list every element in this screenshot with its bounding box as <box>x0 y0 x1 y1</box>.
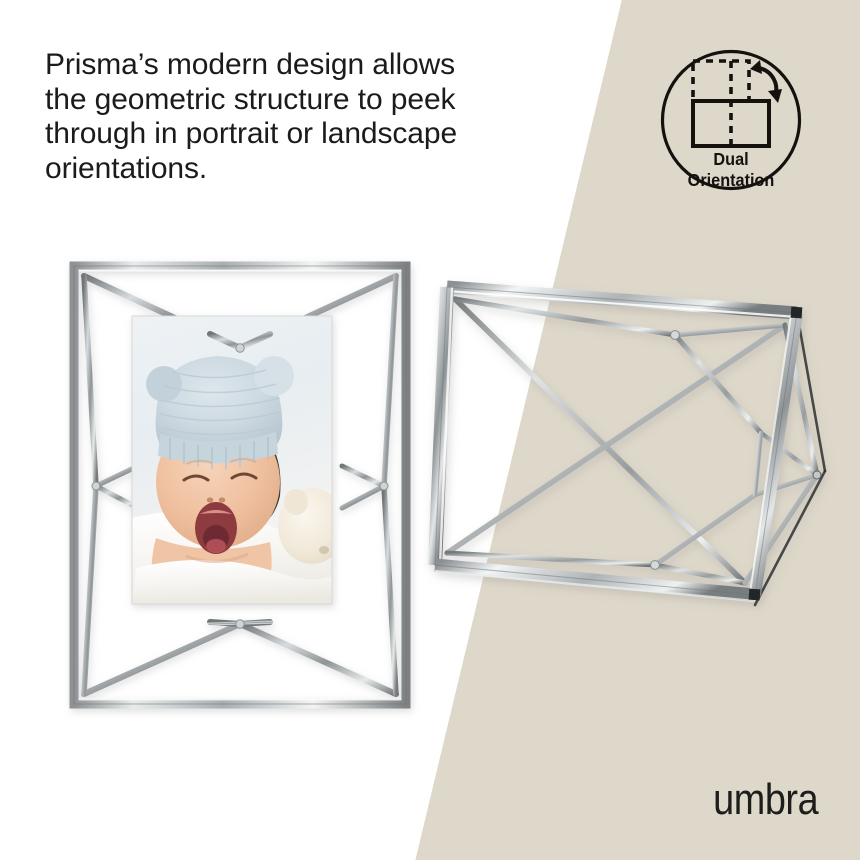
portrait-frame-photo <box>132 316 346 604</box>
rotate-orientation-icon <box>693 60 782 146</box>
dual-orientation-badge: Dual Orientation <box>661 41 801 201</box>
product-portrait-frame <box>60 250 420 720</box>
product-marketing-canvas: Prisma’s modern design allows the geomet… <box>0 0 860 860</box>
landscape-frame-struts <box>447 299 825 605</box>
badge-label-line2: Orientation <box>688 170 775 190</box>
headline-copy: Prisma’s modern design allows the geomet… <box>45 48 515 186</box>
product-landscape-frame <box>425 265 840 640</box>
landscape-frame-body <box>435 287 825 605</box>
portrait-frame-body <box>74 266 406 704</box>
umbra-logo: umbra <box>713 778 818 822</box>
badge-label-line1: Dual <box>713 149 748 169</box>
